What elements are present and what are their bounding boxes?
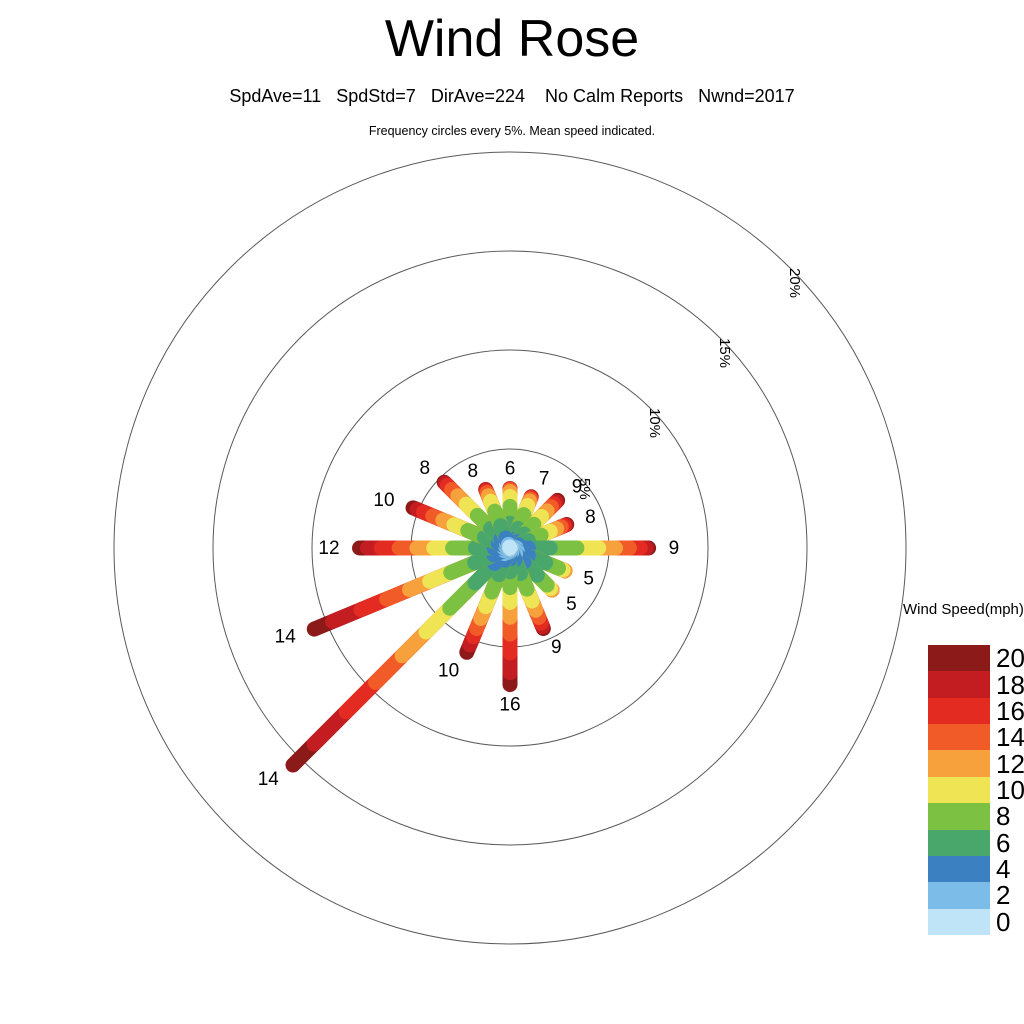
legend-title: Wind Speed(mph) (903, 601, 1024, 619)
mean-speed-label: 10 (373, 490, 394, 511)
legend-swatch (928, 671, 990, 697)
legend-label: 2 (996, 882, 1024, 908)
legend-swatch (928, 882, 990, 908)
mean-speed-label: 5 (566, 594, 577, 615)
legend-swatch (928, 750, 990, 776)
mean-speed-label: 10 (438, 661, 459, 682)
legend-label: 10 (996, 777, 1024, 803)
mean-speed-label: 9 (551, 637, 562, 658)
wind-rose-plot: 5%10%15%20% 6798955916101414121088 (0, 0, 1024, 1024)
legend-label: 18 (996, 672, 1024, 698)
legend-swatch (928, 698, 990, 724)
legend-label: 16 (996, 698, 1024, 724)
legend-label: 8 (996, 803, 1024, 829)
legend-swatch (928, 830, 990, 856)
legend-swatch (928, 777, 990, 803)
legend-label: 6 (996, 830, 1024, 856)
mean-speed-label: 9 (572, 476, 583, 497)
legend-swatch (928, 645, 990, 671)
mean-speed-label: 8 (468, 461, 479, 482)
ring-label: 15% (716, 338, 733, 368)
mean-speed-label: 14 (258, 769, 280, 790)
legend-swatch (928, 803, 990, 829)
mean-speed-label: 9 (669, 538, 680, 559)
legend-color-scale: 20+181614121086420 (928, 645, 1024, 935)
mean-speed-label: 6 (505, 459, 516, 480)
mean-speed-label: 7 (539, 468, 550, 489)
mean-speed-label: 5 (583, 568, 594, 589)
mean-speed-label: 8 (419, 458, 430, 479)
mean-speed-label: 8 (585, 507, 596, 528)
legend-label: 0 (996, 909, 1024, 935)
legend-label: 12 (996, 751, 1024, 777)
legend-label: 14 (996, 724, 1024, 750)
legend-swatch (928, 856, 990, 882)
mean-speed-label: 14 (275, 627, 297, 648)
legend-swatch (928, 909, 990, 935)
legend-label: 20+ (996, 645, 1024, 671)
ring-label: 10% (646, 408, 663, 438)
mean-speed-label: 12 (318, 538, 339, 559)
legend-label: 4 (996, 856, 1024, 882)
ring-label: 20% (786, 268, 803, 298)
mean-speed-label: 16 (499, 695, 520, 716)
legend-swatch (928, 724, 990, 750)
